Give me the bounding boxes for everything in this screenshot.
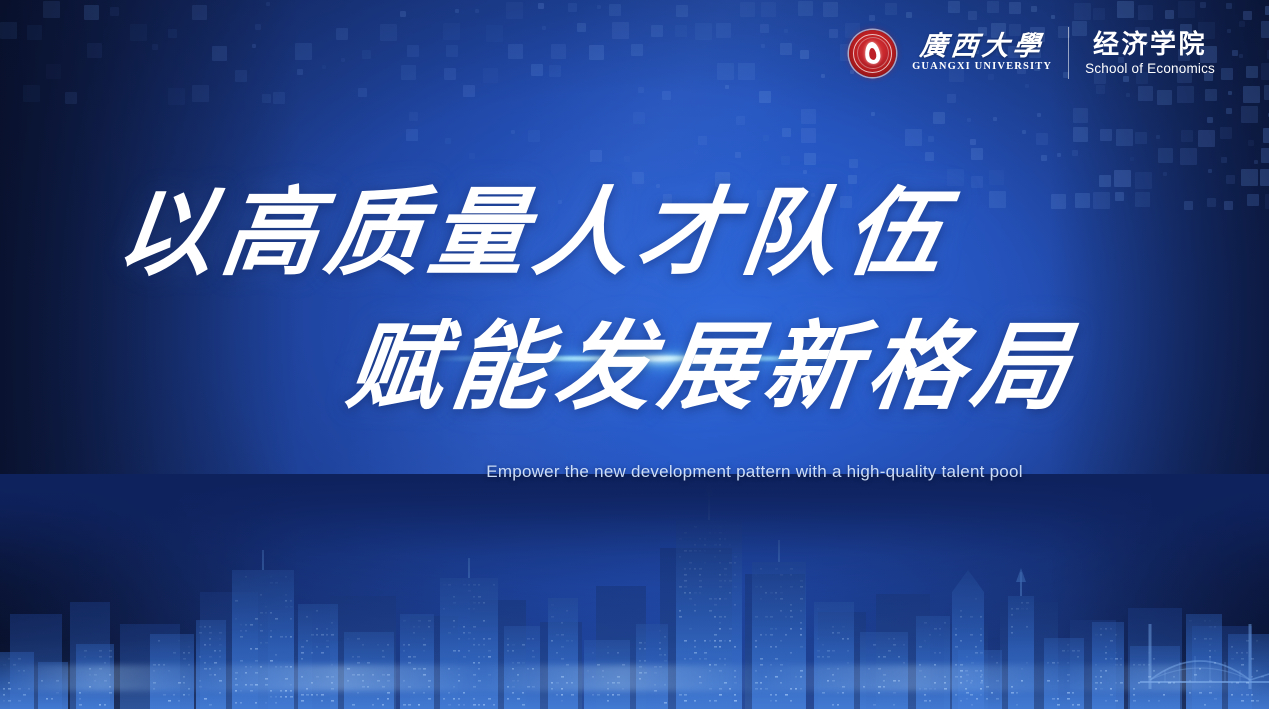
university-name-block: 廣西大學 GUANGXI UNIVERSITY <box>912 33 1052 73</box>
university-name-cn: 廣西大學 <box>919 33 1046 60</box>
title-line-1: 以高质量人才队伍 <box>0 186 1269 282</box>
university-crest-flame-icon <box>849 30 896 77</box>
crest-flame-shape <box>864 41 882 65</box>
school-name-block: 经济学院 School of Economics <box>1085 31 1215 76</box>
logo-lockup: 廣西大學 GUANGXI UNIVERSITY 经济学院 School of E… <box>849 27 1215 79</box>
school-name-cn: 经济学院 <box>1093 31 1207 57</box>
skyline-svg <box>0 474 1269 709</box>
university-name-en: GUANGXI UNIVERSITY <box>912 62 1052 73</box>
title-line-2: 赋能发展新格局 <box>0 320 1269 416</box>
title-zone: 以高质量人才队伍 赋能发展新格局 Empower the new develop… <box>0 186 1269 482</box>
poster-canvas: 廣西大學 GUANGXI UNIVERSITY 经济学院 School of E… <box>0 0 1269 709</box>
subtitle: Empower the new development pattern with… <box>0 462 1269 482</box>
vertical-divider-icon <box>1068 27 1069 79</box>
city-skyline-silhouette <box>0 474 1269 709</box>
school-name-en: School of Economics <box>1085 62 1215 76</box>
